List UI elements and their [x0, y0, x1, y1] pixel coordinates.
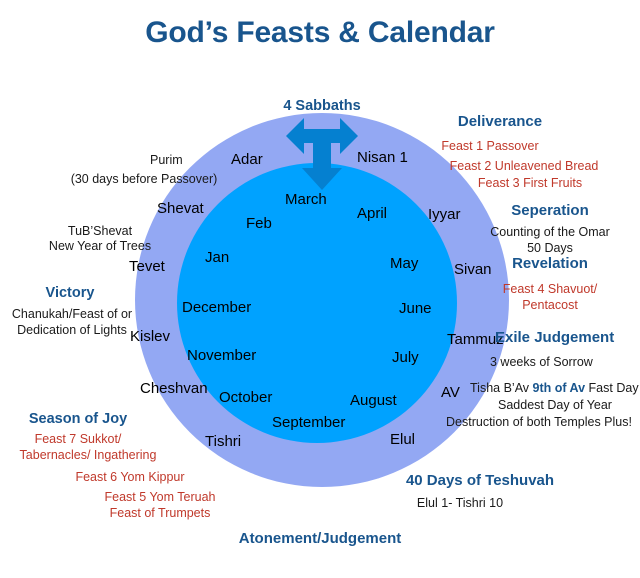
seperation-heading: Seperation: [470, 203, 630, 220]
temple-destruction-line: Destruction of both Temples Plus!: [438, 415, 640, 429]
saddest-day-line: Saddest Day of Year: [470, 398, 640, 412]
hebrew-month-tevet: Tevet: [129, 259, 165, 276]
atonement-heading: Atonement/Judgement: [150, 531, 490, 548]
feast7-line1: Feast 7 Sukkot/: [8, 432, 148, 446]
hebrew-month-shevat: Shevat: [157, 201, 204, 218]
feast2-label: Feast 2 Unleavened Bread: [424, 159, 624, 173]
hebrew-month-cheshvan: Cheshvan: [140, 381, 208, 398]
tisha-bav-suffix: Fast Day: [585, 381, 639, 395]
victory-heading: Victory: [10, 285, 130, 301]
feast4-line2: Pentacost: [470, 298, 630, 312]
hebrew-month-elul: Elul: [390, 432, 415, 449]
tisha-bav-line: Tisha B’Av 9th of Av Fast Day: [470, 381, 639, 395]
exile-sorrow-line: 3 weeks of Sorrow: [490, 355, 640, 369]
month-jan: Jan: [205, 250, 229, 267]
feast1-label: Feast 1 Passover: [400, 139, 580, 153]
page-title: God’s Feasts & Calendar: [0, 16, 640, 50]
omar-counting-line: Counting of the Omar: [470, 225, 630, 239]
month-december: December: [182, 300, 251, 317]
tubshevat-label: TuB’Shevat: [40, 224, 160, 238]
month-august: August: [350, 393, 397, 410]
sabbath-arrows-icon: [276, 110, 368, 196]
hebrew-month-adar: Adar: [231, 152, 263, 169]
revelation-heading: Revelation: [470, 256, 630, 273]
exile-judgement-heading: Exile Judgement: [495, 330, 640, 347]
omar-days-line: 50 Days: [470, 241, 630, 255]
purim-subnote: (30 days before Passover): [30, 172, 258, 186]
feast3-label: Feast 3 First Fruits: [440, 176, 620, 190]
calendar-diagram: God’s Feasts & Calendar 4 Sabbaths March…: [0, 0, 640, 578]
ninth-of-av-emphasis: 9th of Av: [533, 381, 586, 395]
hebrew-month-tishri: Tishri: [205, 434, 241, 451]
teshuvah-range: Elul 1- Tishri 10: [370, 496, 550, 510]
feast-of-trumpets-label: Feast of Trumpets: [70, 506, 250, 520]
hebrew-month-av: AV: [441, 385, 460, 402]
purim-label: Purim: [150, 153, 183, 167]
month-june: June: [399, 301, 432, 318]
month-october: October: [219, 390, 272, 407]
feast4-line1: Feast 4 Shavuot/: [470, 282, 630, 296]
month-september: September: [272, 415, 345, 432]
month-july: July: [392, 350, 419, 367]
season-of-joy-heading: Season of Joy: [8, 411, 148, 427]
teshuvah-heading: 40 Days of Teshuvah: [380, 473, 580, 490]
deliverance-heading: Deliverance: [410, 114, 590, 131]
feast6-label: Feast 6 Yom Kippur: [40, 470, 220, 484]
victory-line2: Dedication of Lights: [2, 323, 142, 337]
tisha-bav-prefix: Tisha B’Av: [470, 381, 533, 395]
victory-line1: Chanukah/Feast of or: [2, 307, 142, 321]
month-may: May: [390, 256, 418, 273]
tubshevat-subnote: New Year of Trees: [30, 239, 170, 253]
month-march: March: [285, 192, 327, 209]
feast7-line2: Tabernacles/ Ingathering: [8, 448, 168, 462]
month-november: November: [187, 348, 256, 365]
month-april: April: [357, 206, 387, 223]
hebrew-month-iyyar: Iyyar: [428, 207, 461, 224]
feast5-label: Feast 5 Yom Teruah: [70, 490, 250, 504]
month-feb: Feb: [246, 216, 272, 233]
